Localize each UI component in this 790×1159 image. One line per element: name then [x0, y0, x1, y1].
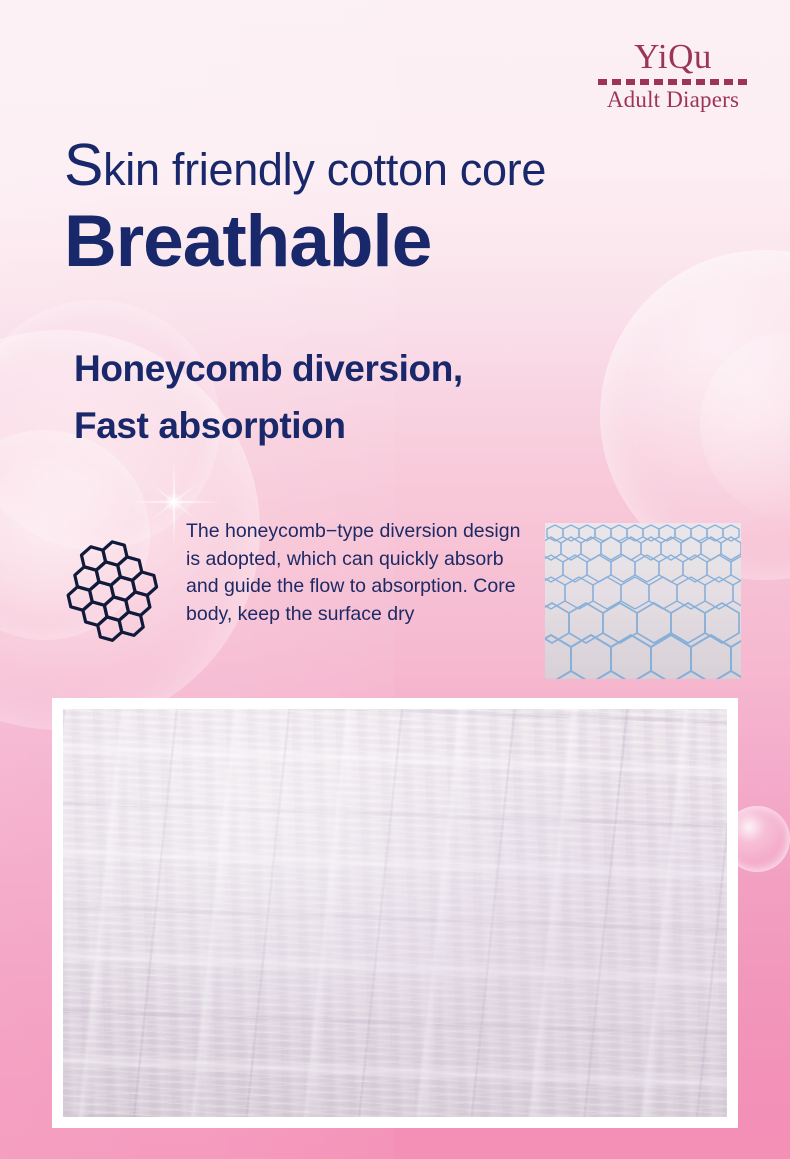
brand-name: YiQu: [598, 38, 748, 76]
brand-tagline: Adult Diapers: [598, 87, 748, 113]
headline-line-2: Breathable: [64, 201, 546, 283]
page-title: Skin friendly cotton core Breathable: [64, 136, 546, 283]
product-feature-poster: YiQu Adult Diapers Skin friendly cotton …: [0, 0, 790, 1159]
headline-line-1: Skin friendly cotton core: [64, 136, 546, 199]
core-photo-tint: [63, 709, 727, 1117]
subheadline-line-2: Fast absorption: [74, 397, 463, 454]
feature-description: The honeycomb−type diversion design is a…: [186, 518, 534, 628]
subheadline: Honeycomb diversion, Fast absorption: [74, 340, 463, 454]
subheadline-line-1: Honeycomb diversion,: [74, 340, 463, 397]
honeycomb-diversion-photo: [545, 523, 741, 679]
honeycomb-icon: [52, 534, 182, 644]
cotton-core-photo-frame: [52, 698, 738, 1128]
headline-line-1-rest: kin friendly cotton core: [103, 144, 546, 195]
dashed-divider-icon: [598, 79, 748, 85]
brand-logo: YiQu Adult Diapers: [598, 38, 748, 113]
background-bubble: [700, 330, 790, 520]
cotton-core-texture-photo: [63, 709, 727, 1117]
headline-drop-cap: S: [64, 132, 103, 198]
